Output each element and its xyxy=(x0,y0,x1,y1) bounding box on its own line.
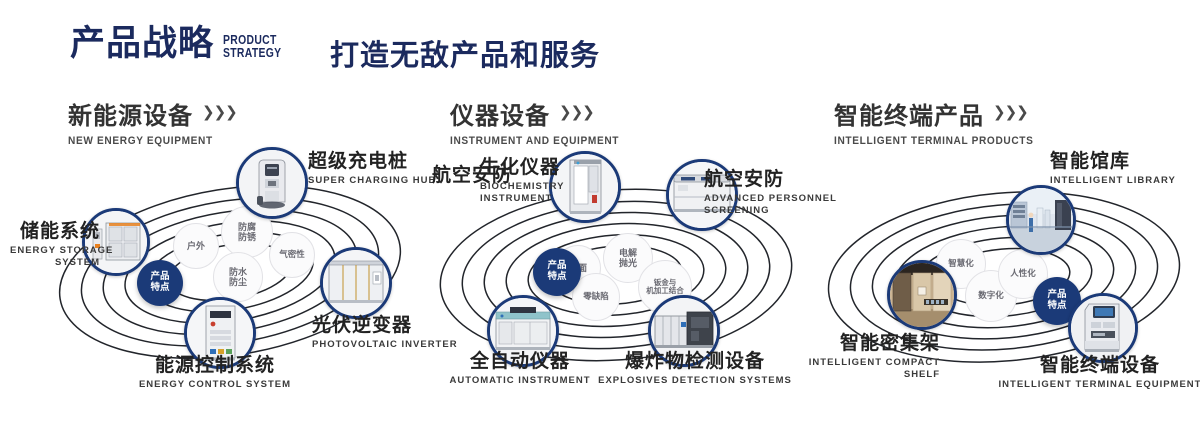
product-strategy-infographic: 产品战略 PRODUCT STRATEGY 打造无敌产品和服务 新能源设备❯❯❯… xyxy=(0,0,1200,422)
section-title-cn: 新能源设备 xyxy=(68,96,193,131)
section-title-cn: 仪器设备 xyxy=(450,96,550,131)
feature-bubble: 户外 xyxy=(173,223,219,269)
chevron-right-icon: ❯❯❯ xyxy=(559,103,594,121)
cluster-intelligent-terminal: 智慧化 数字化 人性化 产品 特点 xyxy=(810,155,1200,385)
page-title-english-line1: PRODUCT xyxy=(223,33,281,46)
section-title-en: INSTRUMENT AND EQUIPMENT xyxy=(450,135,619,147)
library-room-icon xyxy=(1009,188,1073,252)
label-energy-control-system: 能源控制系统 ENERGY CONTROL SYSTEM xyxy=(80,355,350,391)
page-title-english-line2: STRATEGY xyxy=(223,46,281,59)
node-intelligent-library[interactable] xyxy=(1006,185,1076,255)
section-title-new-energy: 新能源设备❯❯❯ NEW ENERGY EQUIPMENT xyxy=(68,96,237,147)
label-intelligent-terminal-equipment: 智能终端设备 INTELLIGENT TERMINAL EQUIPMENT xyxy=(980,355,1200,391)
inverter-cabinet-icon xyxy=(323,250,389,316)
section-title-instrument: 仪器设备❯❯❯ INSTRUMENT AND EQUIPMENT xyxy=(450,96,634,147)
chevron-right-icon: ❯❯❯ xyxy=(993,103,1028,121)
section-title-en: NEW ENERGY EQUIPMENT xyxy=(68,135,223,147)
node-super-charging-hub[interactable] xyxy=(236,147,308,219)
section-title-intelligent-terminal: 智能终端产品❯❯❯ INTELLIGENT TERMINAL PRODUCTS xyxy=(834,96,1051,147)
section-title-en: INTELLIGENT TERMINAL PRODUCTS xyxy=(834,135,1034,147)
node-photovoltaic-inverter[interactable] xyxy=(320,247,392,319)
page-header: 产品战略 PRODUCT STRATEGY xyxy=(70,26,296,61)
section-title-cn: 智能终端产品 xyxy=(834,96,984,131)
page-title-english: PRODUCT STRATEGY xyxy=(223,33,281,60)
label-energy-storage-system: 储能系统 ENERGY STORAGE SYSTEM xyxy=(10,221,100,268)
feature-bubble: 气密性 xyxy=(269,232,315,278)
chevron-right-icon: ❯❯❯ xyxy=(202,103,237,121)
label-intelligent-compact-shelf: 智能密集架 INTELLIGENT COMPACT SHELF xyxy=(740,333,940,380)
node-intelligent-terminal-equipment[interactable] xyxy=(1068,293,1138,363)
feature-bubble: 防水 防尘 xyxy=(213,252,263,302)
page-subtitle: 打造无敌产品和服务 xyxy=(330,32,600,74)
label-biochemistry-instrument: 生化仪器 BIOCHEMISTRY INSTRUMENT xyxy=(480,157,605,204)
page-title: 产品战略 xyxy=(70,26,214,61)
cluster-new-energy: 户外 防腐 防锈 防水 防尘 气密性 产品 特点 xyxy=(40,155,420,385)
kiosk-terminal-icon xyxy=(1071,296,1135,360)
label-intelligent-library: 智能馆库 INTELLIGENT LIBRARY xyxy=(1050,151,1200,187)
compact-shelf-icon xyxy=(890,263,954,327)
node-intelligent-compact-shelf[interactable] xyxy=(887,260,957,330)
core-bubble-product-features: 产品 特点 xyxy=(533,248,581,296)
charging-pile-icon xyxy=(239,150,305,216)
